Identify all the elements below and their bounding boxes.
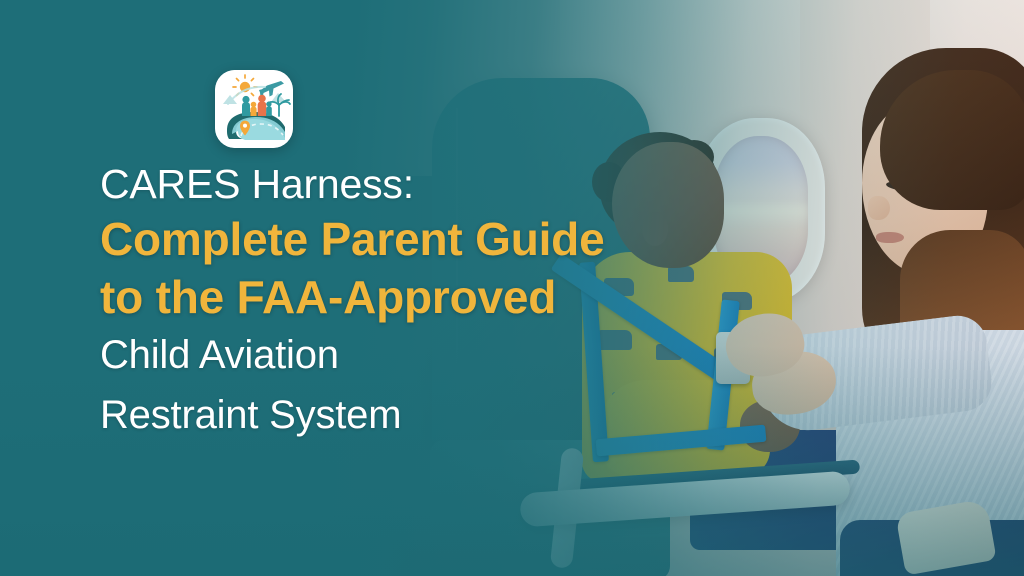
headline-line-3: to the FAA-Approved xyxy=(100,268,680,326)
page-title: CARES Harness: Complete Parent Guide to … xyxy=(100,158,680,446)
headline-line-1: CARES Harness: xyxy=(100,158,680,210)
hero-banner: CARES Harness: Complete Parent Guide to … xyxy=(0,0,1024,576)
headline-line-2: Complete Parent Guide xyxy=(100,210,680,268)
family-travel-logo[interactable] xyxy=(215,70,293,148)
hero-content: CARES Harness: Complete Parent Guide to … xyxy=(0,0,1024,576)
headline-line-5: Restraint System xyxy=(100,384,680,446)
headline-line-4: Child Aviation xyxy=(100,326,680,384)
